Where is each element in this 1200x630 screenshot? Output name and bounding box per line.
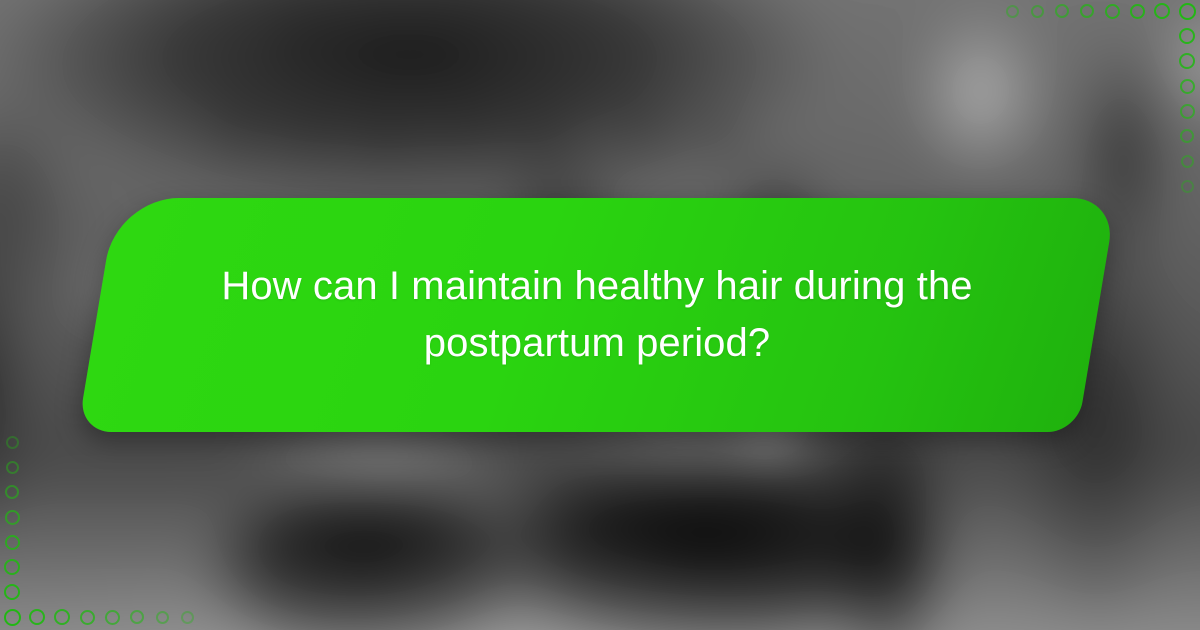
question-banner: How can I maintain healthy hair during t… xyxy=(97,198,1097,432)
question-card-canvas: How can I maintain healthy hair during t… xyxy=(0,0,1200,630)
question-text: How can I maintain healthy hair during t… xyxy=(167,258,1027,372)
question-banner-text-area: How can I maintain healthy hair during t… xyxy=(97,198,1097,432)
